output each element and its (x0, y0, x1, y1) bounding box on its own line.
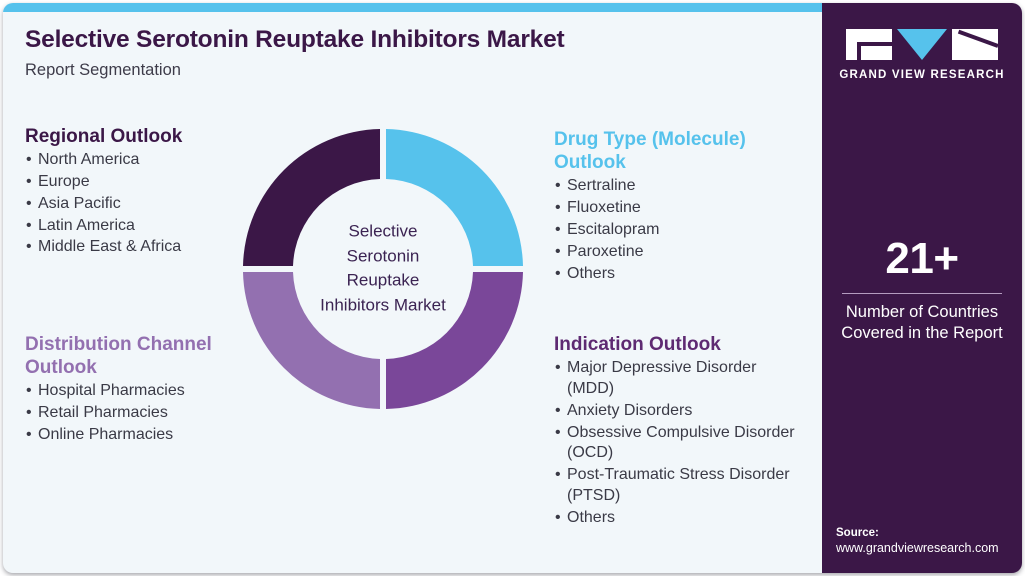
source-url: www.grandviewresearch.com (836, 541, 1022, 555)
list-item: Paroxetine (554, 242, 804, 263)
segment-heading-indication: Indication Outlook (554, 333, 804, 356)
donut-svg (241, 127, 525, 411)
brand-logo: GRAND VIEW RESEARCH (822, 29, 1022, 81)
logo-r-mark-icon (952, 29, 998, 60)
list-item: Others (554, 264, 804, 285)
logo-g-mark-icon (846, 29, 892, 60)
segment-list-indication: Major Depressive Disorder (MDD) Anxiety … (554, 358, 804, 528)
list-item: North America (25, 150, 250, 171)
list-item: Asia Pacific (25, 194, 250, 215)
segment-heading-regional: Regional Outlook (25, 125, 250, 148)
segment-list-drug-type: Sertraline Fluoxetine Escitalopram Parox… (554, 176, 804, 284)
page-title: Selective Serotonin Reuptake Inhibitors … (25, 26, 805, 54)
donut-segment-indication (386, 272, 523, 409)
stat-divider (842, 293, 1002, 294)
stat-caption: Number of Countries Covered in the Repor… (822, 302, 1022, 344)
list-item: Hospital Pharmacies (25, 381, 250, 402)
source-block: Source: www.grandviewresearch.com (836, 527, 1022, 555)
donut-segment-distribution (243, 272, 380, 409)
segment-heading-distribution: Distribution Channel Outlook (25, 333, 250, 379)
segment-list-distribution: Hospital Pharmacies Retail Pharmacies On… (25, 381, 250, 445)
list-item: Sertraline (554, 176, 804, 197)
segment-block-drug-type: Drug Type (Molecule) Outlook Sertraline … (554, 128, 804, 285)
list-item: Fluoxetine (554, 198, 804, 219)
header: Selective Serotonin Reuptake Inhibitors … (25, 26, 805, 80)
list-item: Middle East & Africa (25, 237, 250, 258)
infographic-root: Selective Serotonin Reuptake Inhibitors … (0, 0, 1025, 576)
logo-marks (822, 29, 1022, 60)
segment-block-regional: Regional Outlook North America Europe As… (25, 125, 250, 259)
stat-value: 21+ (822, 237, 1022, 281)
list-item: Post-Traumatic Stress Disorder (PTSD) (554, 465, 804, 507)
segment-block-distribution: Distribution Channel Outlook Hospital Ph… (25, 333, 250, 447)
list-item: Major Depressive Disorder (MDD) (554, 358, 804, 400)
source-label: Source: (836, 527, 1022, 539)
donut-segment-drug-type (386, 129, 523, 266)
page-subtitle: Report Segmentation (25, 61, 805, 80)
segment-list-regional: North America Europe Asia Pacific Latin … (25, 150, 250, 258)
segment-heading-drug-type: Drug Type (Molecule) Outlook (554, 128, 804, 174)
segment-block-indication: Indication Outlook Major Depressive Diso… (554, 333, 804, 530)
list-item: Escitalopram (554, 220, 804, 241)
side-panel: GRAND VIEW RESEARCH 21+ Number of Countr… (822, 3, 1022, 573)
donut-segment-regional (243, 129, 380, 266)
report-card: Selective Serotonin Reuptake Inhibitors … (3, 3, 1022, 573)
logo-v-triangle-icon (897, 29, 947, 60)
list-item: Online Pharmacies (25, 425, 250, 446)
list-item: Obsessive Compulsive Disorder (OCD) (554, 423, 804, 465)
list-item: Europe (25, 172, 250, 193)
list-item: Anxiety Disorders (554, 401, 804, 422)
stat-countries: 21+ Number of Countries Covered in the R… (822, 237, 1022, 344)
donut-chart: Selective Serotonin Reuptake Inhibitors … (241, 127, 525, 411)
list-item: Others (554, 508, 804, 529)
top-accent-bar (3, 3, 822, 12)
list-item: Retail Pharmacies (25, 403, 250, 424)
brand-name: GRAND VIEW RESEARCH (822, 69, 1022, 81)
list-item: Latin America (25, 216, 250, 237)
